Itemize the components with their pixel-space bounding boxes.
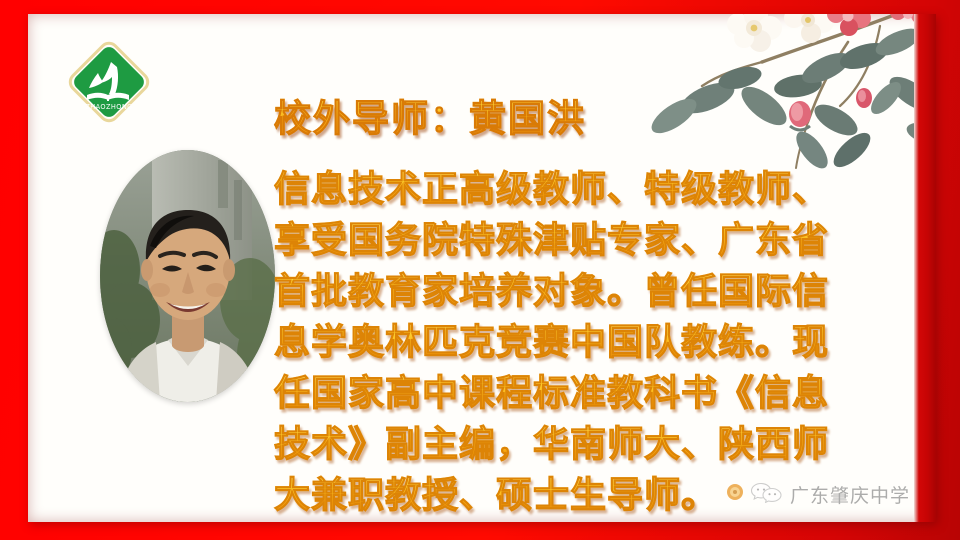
school-logo: ZHAOZHONG <box>67 40 151 124</box>
right-red-strip <box>914 14 936 522</box>
bio-line: 技术》副主编，华南师大、陕西师 <box>274 419 936 470</box>
wechat-account-name: 广东肇庆中学 <box>790 481 910 508</box>
bio-line: 任国家高中课程标准教科书《信息 <box>274 368 936 419</box>
logo-motto: ZHAOZHONG <box>85 103 132 111</box>
slide-canvas: ZHAOZHONG <box>28 14 936 522</box>
bio-line: 息学奥林匹克竞赛中国队教练。现 <box>274 317 936 368</box>
slide-root: ZHAOZHONG <box>0 0 960 540</box>
wechat-bubble-icon <box>750 481 784 508</box>
orange-seal-icon <box>726 483 744 506</box>
bio-line: 享受国务院特殊津贴专家、广东省 <box>274 215 936 266</box>
wechat-watermark: 广东肇庆中学 <box>726 481 910 508</box>
mentor-portrait <box>100 150 275 402</box>
bio-line: 首批教育家培养对象。曾任国际信 <box>274 266 936 317</box>
page-title: 校外导师：黄国洪 <box>274 88 586 142</box>
mentor-bio: 信息技术正高级教师、特级教师、 享受国务院特殊津贴专家、广东省 首批教育家培养对… <box>274 164 936 521</box>
bio-line: 信息技术正高级教师、特级教师、 <box>274 164 936 215</box>
